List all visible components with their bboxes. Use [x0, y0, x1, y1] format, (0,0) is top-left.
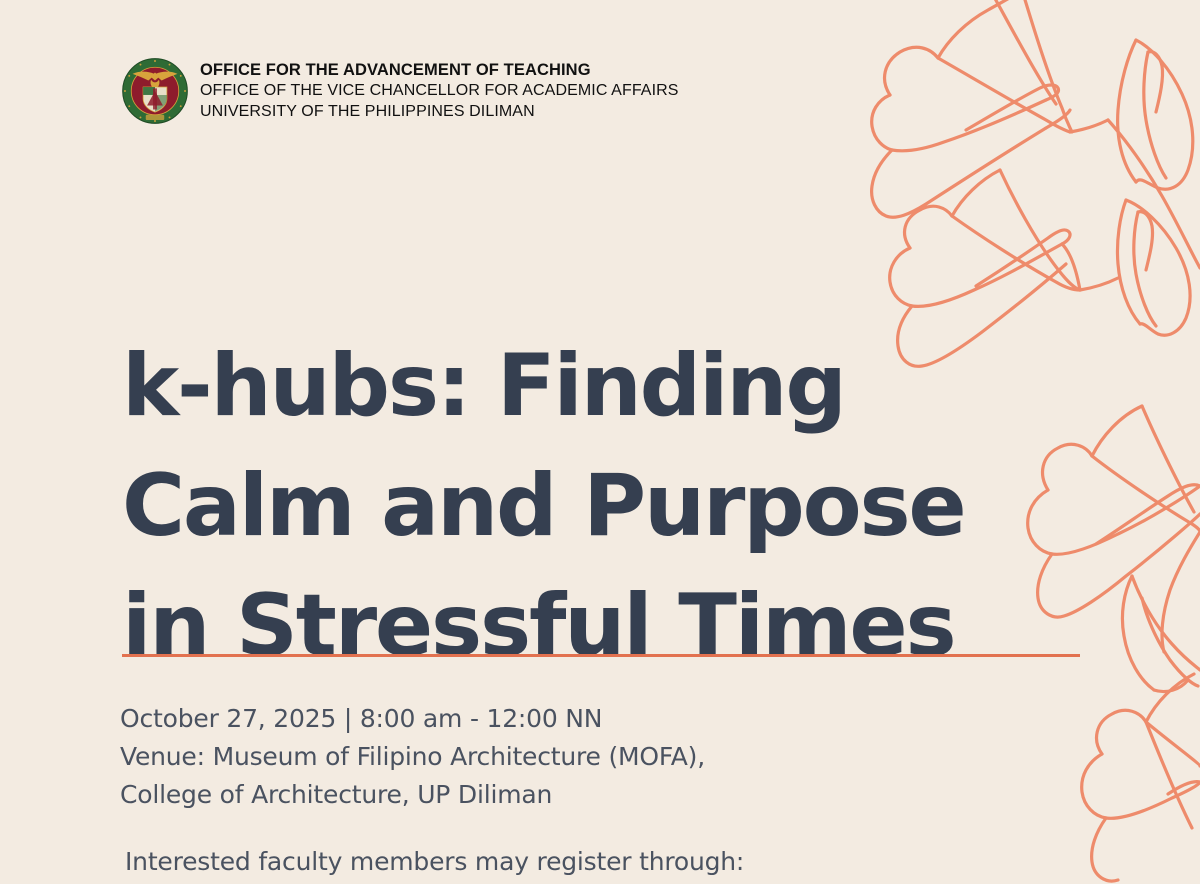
header-office-subtitle: OFFICE OF THE VICE CHANCELLOR FOR ACADEM…: [200, 80, 679, 101]
accent-divider: [122, 654, 1080, 657]
event-poster: OFFICE FOR THE ADVANCEMENT OF TEACHING O…: [0, 0, 1200, 884]
title-line-3: in Stressful Times: [122, 566, 1062, 686]
page-title: k-hubs: Finding Calm and Purpose in Stre…: [122, 326, 1062, 686]
up-seal-icon: [122, 58, 188, 124]
event-details: October 27, 2025 | 8:00 am - 12:00 NN Ve…: [120, 700, 705, 814]
header-office-title: OFFICE FOR THE ADVANCEMENT OF TEACHING: [200, 60, 679, 80]
event-venue-line-1: Venue: Museum of Filipino Architecture (…: [120, 738, 705, 776]
header-university: UNIVERSITY OF THE PHILIPPINES DILIMAN: [200, 101, 679, 122]
registration-note: Interested faculty members may register …: [125, 843, 744, 881]
title-line-2: Calm and Purpose: [122, 446, 1062, 566]
event-venue-line-2: College of Architecture, UP Diliman: [120, 776, 705, 814]
header-text-block: OFFICE FOR THE ADVANCEMENT OF TEACHING O…: [200, 55, 679, 122]
organization-header: OFFICE FOR THE ADVANCEMENT OF TEACHING O…: [122, 55, 679, 124]
event-date-time: October 27, 2025 | 8:00 am - 12:00 NN: [120, 700, 705, 738]
title-line-1: k-hubs: Finding: [122, 326, 1062, 446]
